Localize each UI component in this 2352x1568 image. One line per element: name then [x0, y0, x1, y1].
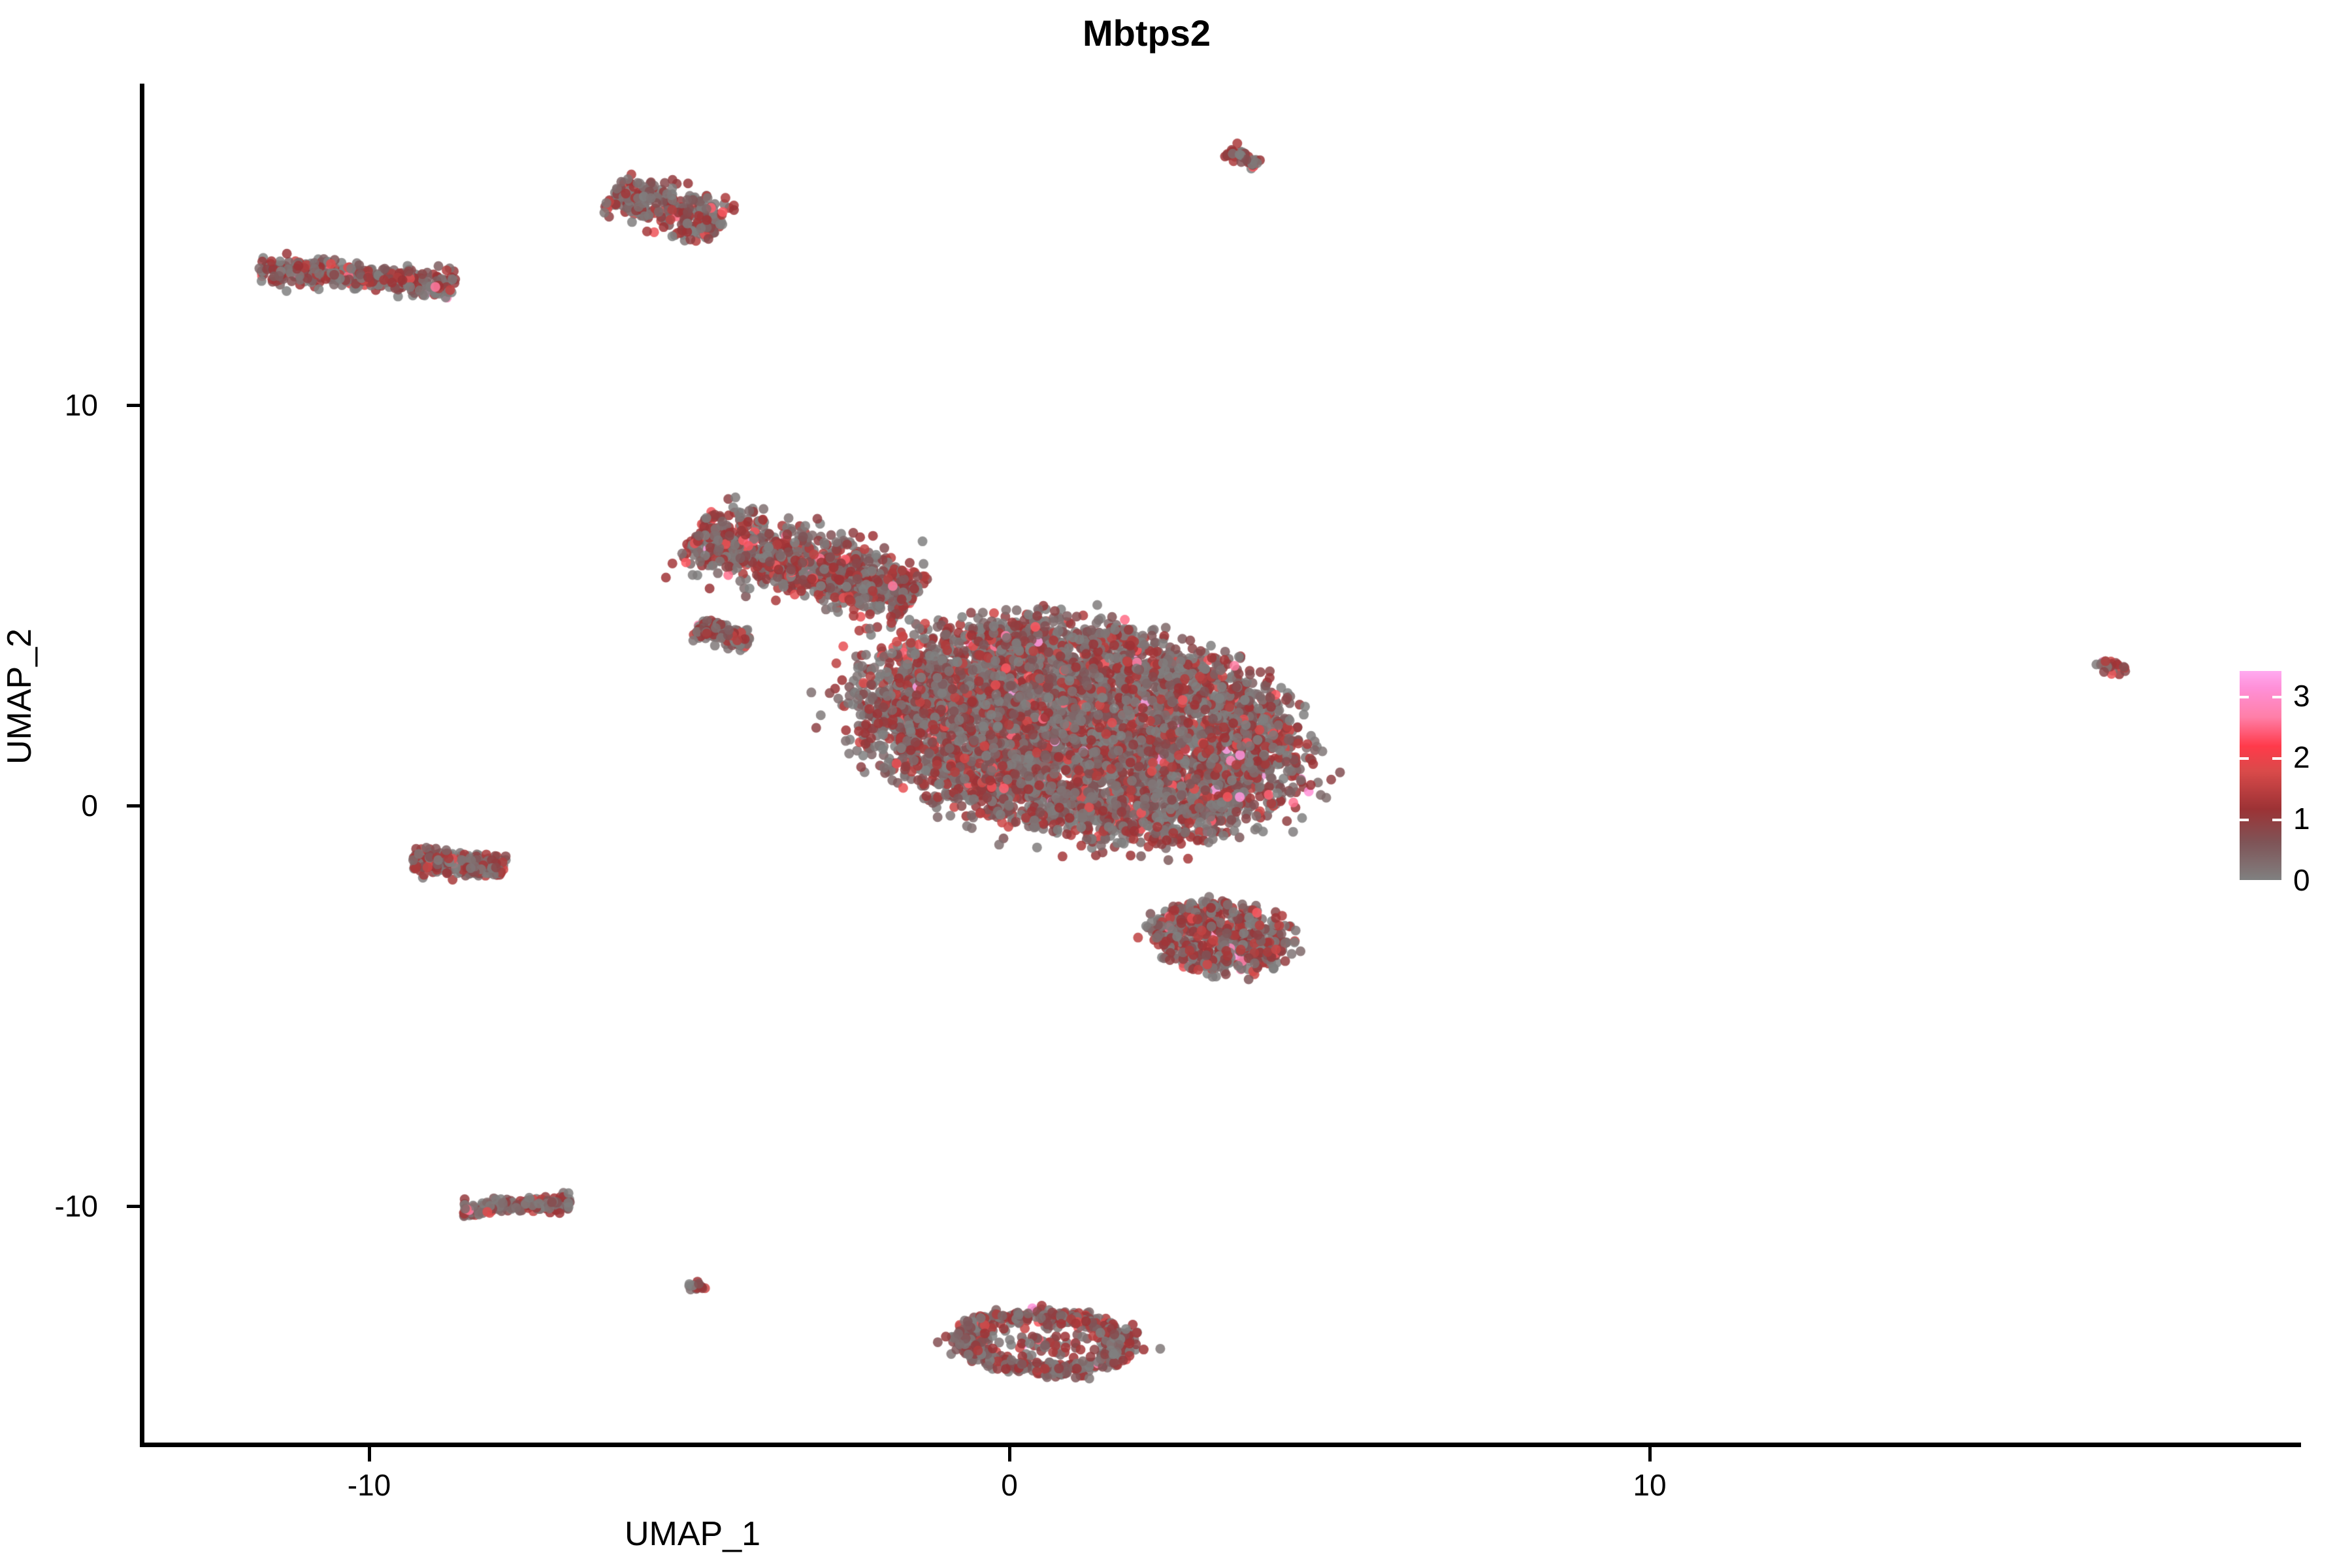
colorbar-tick-label: 2 — [2293, 740, 2310, 775]
x-axis-line — [140, 1443, 2301, 1447]
x-tick-mark — [368, 1447, 371, 1462]
y-axis-title: UMAP_2 — [0, 629, 39, 764]
colorbar-tick-mark — [2272, 696, 2281, 698]
colorbar-tick-label: 1 — [2293, 801, 2310, 836]
x-tick-label: -10 — [348, 1467, 391, 1503]
colorbar-tick-mark — [2240, 757, 2249, 760]
colorbar-tick-mark — [2240, 696, 2249, 698]
y-tick-label: -10 — [55, 1188, 98, 1224]
y-tick-mark — [127, 404, 140, 407]
colorbar-tick-label: 0 — [2293, 862, 2310, 898]
colorbar-legend[interactable]: 3210 — [2240, 671, 2281, 880]
colorbar-tick-mark — [2240, 819, 2249, 821]
y-tick-mark — [127, 1205, 140, 1208]
colorbar-tick-label: 3 — [2293, 678, 2310, 713]
x-tick-label: 0 — [1001, 1467, 1018, 1503]
x-tick-mark — [1648, 1447, 1652, 1462]
colorbar-gradient — [2240, 671, 2281, 880]
colorbar-tick-mark — [2272, 757, 2281, 760]
umap-feature-plot: Mbtps2 100-10 -10010 UMAP_2 UMAP_1 3210 — [0, 0, 2352, 1568]
page-title: Mbtps2 — [0, 12, 2323, 54]
x-axis-title: UMAP_1 — [0, 1514, 1869, 1554]
colorbar-tick-mark — [2272, 819, 2281, 821]
y-tick-label: 10 — [65, 387, 98, 423]
plot-panel — [142, 85, 2168, 1445]
y-axis-line — [140, 84, 144, 1446]
x-tick-mark — [1008, 1447, 1011, 1462]
x-tick-label: 10 — [1633, 1467, 1666, 1503]
y-tick-mark — [127, 804, 140, 808]
colorbar-tick-mark — [2272, 880, 2281, 883]
y-tick-label: 0 — [81, 788, 98, 823]
scatter-points-layer — [142, 85, 2168, 1445]
colorbar-tick-mark — [2240, 880, 2249, 883]
